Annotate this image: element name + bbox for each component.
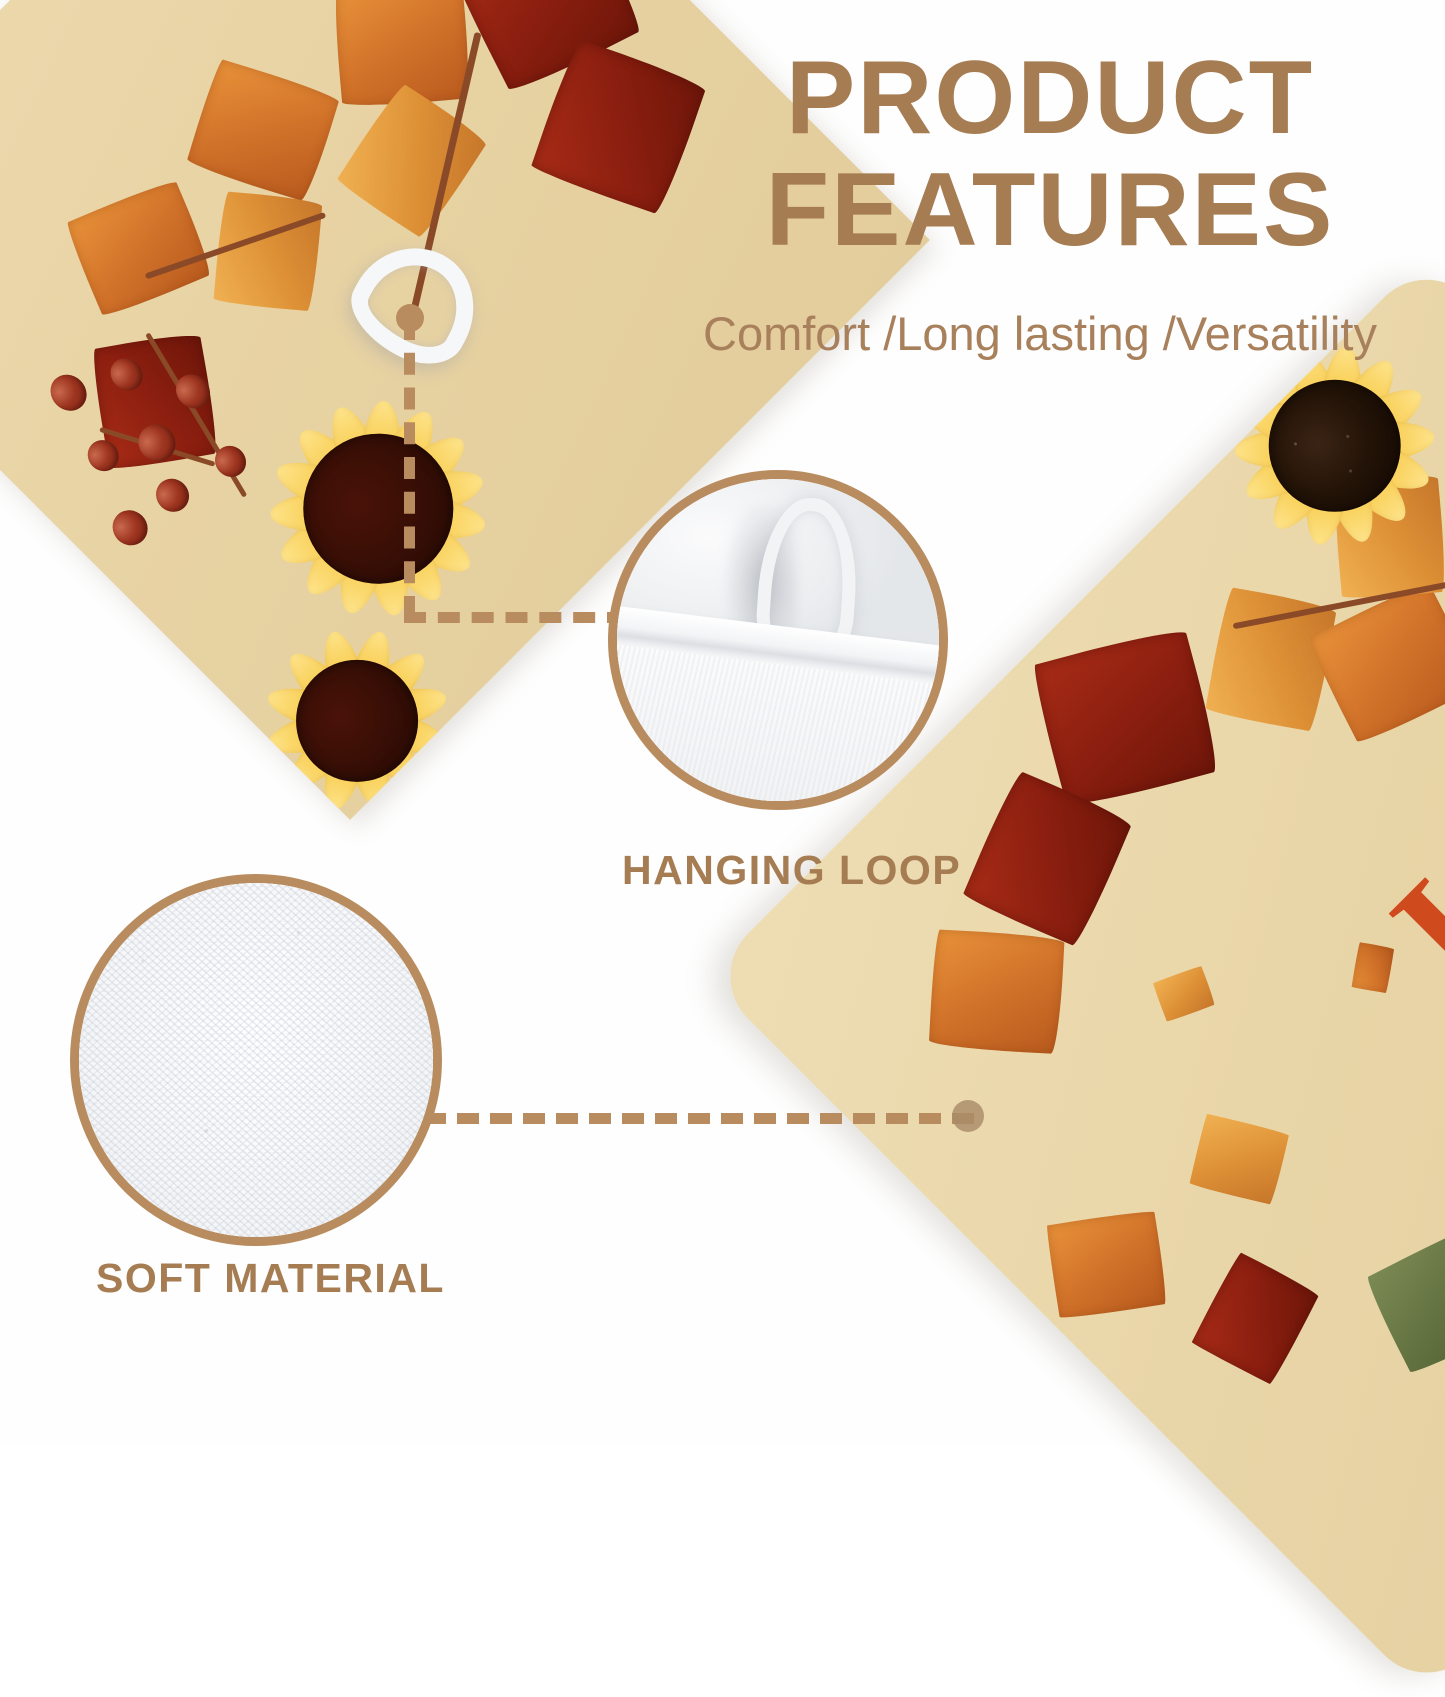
falling-leaf [1152, 965, 1216, 1023]
callout-label-hanging-loop: HANGING LOOP [622, 847, 961, 894]
leader-line-hanging-loop-horizontal [404, 612, 629, 623]
falling-leaf [1189, 1114, 1289, 1205]
callout-label-soft-material: SOFT MATERIAL [96, 1255, 445, 1302]
falling-leaf [1191, 1251, 1320, 1385]
maple-leaf-orange [64, 177, 215, 320]
product-photo-bottom-right: S'TI [705, 255, 1445, 1697]
detail-circle-soft-material [70, 874, 442, 1246]
detail-circle-hanging-loop [608, 470, 948, 810]
maple-leaf-gold [335, 82, 489, 240]
page-title: PRODUCT FEATURES [700, 42, 1400, 267]
maple-leaf-gold [213, 191, 322, 311]
infographic-canvas: S'TI [0, 0, 1445, 1445]
falling-leaf [1045, 1209, 1169, 1321]
soft-material-closeup-photo [79, 883, 433, 1237]
leader-line-soft-material [424, 1113, 974, 1124]
hanging-loop-closeup-photo [617, 479, 939, 801]
falling-leaf [1352, 942, 1395, 993]
page-title-line2: FEATURES [700, 154, 1400, 266]
maple-leaf-orange [929, 929, 1065, 1054]
berry [43, 367, 94, 418]
maple-leaf-orange [185, 58, 340, 203]
page-subtitle: Comfort /Long lasting /Versatility [660, 306, 1420, 361]
leader-dot-soft-material [952, 1100, 984, 1132]
leader-line-hanging-loop-vertical [404, 318, 415, 618]
berry [105, 503, 154, 552]
page-title-line1: PRODUCT [786, 40, 1314, 156]
maple-leaf-red [1029, 625, 1222, 811]
green-leaf [1363, 1211, 1445, 1377]
